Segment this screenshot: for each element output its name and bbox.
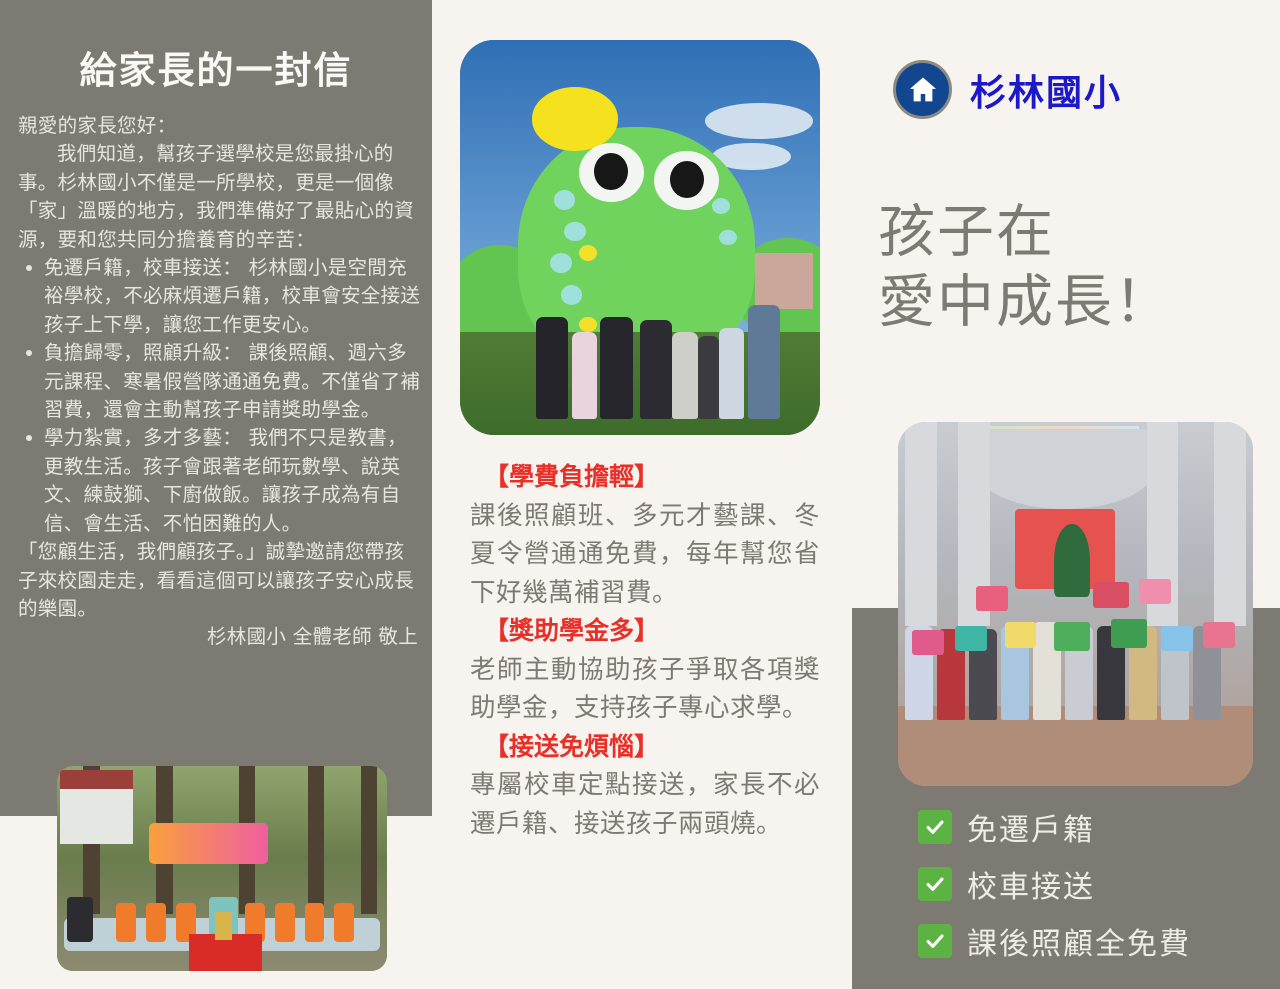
bullet-icon — [26, 265, 32, 271]
page-headline: 孩子在 愛中成長！ — [878, 197, 1278, 337]
benefit-text-2: 負擔歸零，照顧升級： 課後照顧、週六多元課程、寒暑假營隊通通免費。不僅省了補習費… — [44, 341, 420, 421]
list-item: 免遷戶籍，校車接送： 杉林國小是空間充裕學校，不必麻煩遷戶籍，校車會安全接送孩子… — [18, 254, 422, 339]
feature-checklist: 免遷戶籍 校車接送 課後照顧全免費 — [918, 805, 1268, 976]
home-icon — [893, 60, 952, 119]
checklist-item-3: 課後照顧全免費 — [918, 919, 1268, 963]
bullet-icon — [26, 435, 32, 441]
letter-closing: 「您顧生活，我們顧孩子。」誠摯邀請您帶孩子來校園走走，看看這個可以讓孩子安心成長… — [18, 538, 422, 623]
check-icon — [918, 867, 952, 901]
benefit-body-3: 專屬校車定點接送，家長不必遷戶籍、接送孩子兩頭燒。 — [470, 766, 820, 843]
photo-group-award-content — [57, 766, 387, 971]
letter-title: 給家長的一封信 — [0, 40, 432, 94]
benefit-text-1: 免遷戶籍，校車接送： 杉林國小是空間充裕學校，不必麻煩遷戶籍，校車會安全接送孩子… — [44, 256, 420, 336]
benefit-body-2: 老師主動協助孩子爭取各項獎助學金，支持孩子專心求學。 — [470, 651, 820, 728]
checklist-label-1: 免遷戶籍 — [967, 805, 1095, 849]
benefit-text-3: 學力紮實，多才多藝： 我們不只是教書，更教生活。孩子會跟著老師玩數學、說英文、練… — [44, 426, 407, 534]
middle-benefits: 【學費負擔輕】 課後照顧班、多元才藝課、冬夏令營通通免費，每年幫您省下好幾萬補習… — [470, 458, 820, 843]
checklist-item-2: 校車接送 — [918, 862, 1268, 906]
letter-signature: 杉林國小 全體老師 敬上 — [18, 623, 422, 651]
headline-line-1: 孩子在 — [878, 197, 1278, 267]
photo-christmas — [898, 422, 1253, 786]
letter-body: 親愛的家長您好： 我們知道，幫孩子選學校是您最掛心的事。杉林國小不僅是一所學校，… — [18, 112, 422, 652]
list-item: 負擔歸零，照顧升級： 課後照顧、週六多元課程、寒暑假營隊通通免費。不僅省了補習費… — [18, 339, 422, 424]
letter-intro: 我們知道，幫孩子選學校是您最掛心的事。杉林國小不僅是一所學校，更是一個像「家」溫… — [18, 140, 422, 254]
benefit-heading-2: 【獎助學金多】 — [470, 612, 820, 651]
brand-header: 杉林國小 — [893, 60, 1122, 119]
headline-line-2: 愛中成長！ — [878, 267, 1278, 337]
photo-group-award — [57, 766, 387, 971]
letter-greeting: 親愛的家長您好： — [18, 112, 422, 140]
benefit-heading-3: 【接送免煩惱】 — [470, 728, 820, 767]
photo-mascot — [460, 40, 820, 435]
bullet-icon — [26, 350, 32, 356]
checklist-label-3: 課後照顧全免費 — [967, 919, 1191, 963]
letter-benefit-list: 免遷戶籍，校車接送： 杉林國小是空間充裕學校，不必麻煩遷戶籍，校車會安全接送孩子… — [18, 254, 422, 538]
school-name: 杉林國小 — [970, 64, 1122, 116]
photo-christmas-content — [898, 422, 1253, 786]
list-item: 學力紮實，多才多藝： 我們不只是教書，更教生活。孩子會跟著老師玩數學、說英文、練… — [18, 424, 422, 538]
check-icon — [918, 810, 952, 844]
checklist-label-2: 校車接送 — [967, 862, 1095, 906]
benefit-heading-1: 【學費負擔輕】 — [470, 458, 820, 497]
benefit-body-1: 課後照顧班、多元才藝課、冬夏令營通通免費，每年幫您省下好幾萬補習費。 — [470, 497, 820, 613]
photo-mascot-content — [460, 40, 820, 435]
check-icon — [918, 924, 952, 958]
checklist-item-1: 免遷戶籍 — [918, 805, 1268, 849]
